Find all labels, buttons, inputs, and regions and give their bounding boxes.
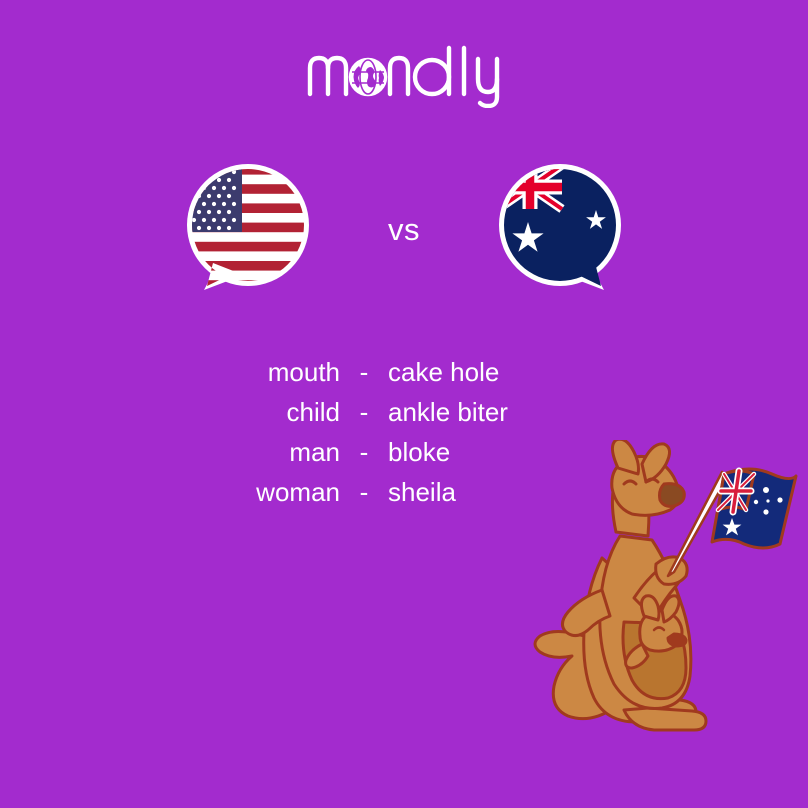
australian-flag-held xyxy=(712,469,796,548)
us-flag-speech-bubble xyxy=(180,160,320,300)
separator-dash: - xyxy=(340,352,388,392)
american-word: man xyxy=(190,432,340,472)
american-word: woman xyxy=(190,472,340,512)
australian-word: ankle biter xyxy=(388,392,618,432)
kangaroo-snout xyxy=(660,484,685,507)
table-row: mouth - cake hole xyxy=(0,352,808,392)
table-row: child - ankle biter xyxy=(0,392,808,432)
kangaroo-illustration xyxy=(528,440,798,740)
separator-dash: - xyxy=(340,472,388,512)
separator-dash: - xyxy=(340,392,388,432)
mondly-logotype xyxy=(304,42,504,108)
flag-comparison-row: vs xyxy=(0,160,808,310)
poster-canvas: vs xyxy=(0,0,808,808)
au-flag-speech-bubble xyxy=(488,160,628,300)
globe-icon xyxy=(351,60,385,94)
australian-word: cake hole xyxy=(388,352,618,392)
american-word: child xyxy=(190,392,340,432)
separator-dash: - xyxy=(340,432,388,472)
american-word: mouth xyxy=(190,352,340,392)
vs-label: vs xyxy=(354,212,454,248)
kangaroo-foot xyxy=(624,708,706,730)
brand-logo xyxy=(0,40,808,110)
